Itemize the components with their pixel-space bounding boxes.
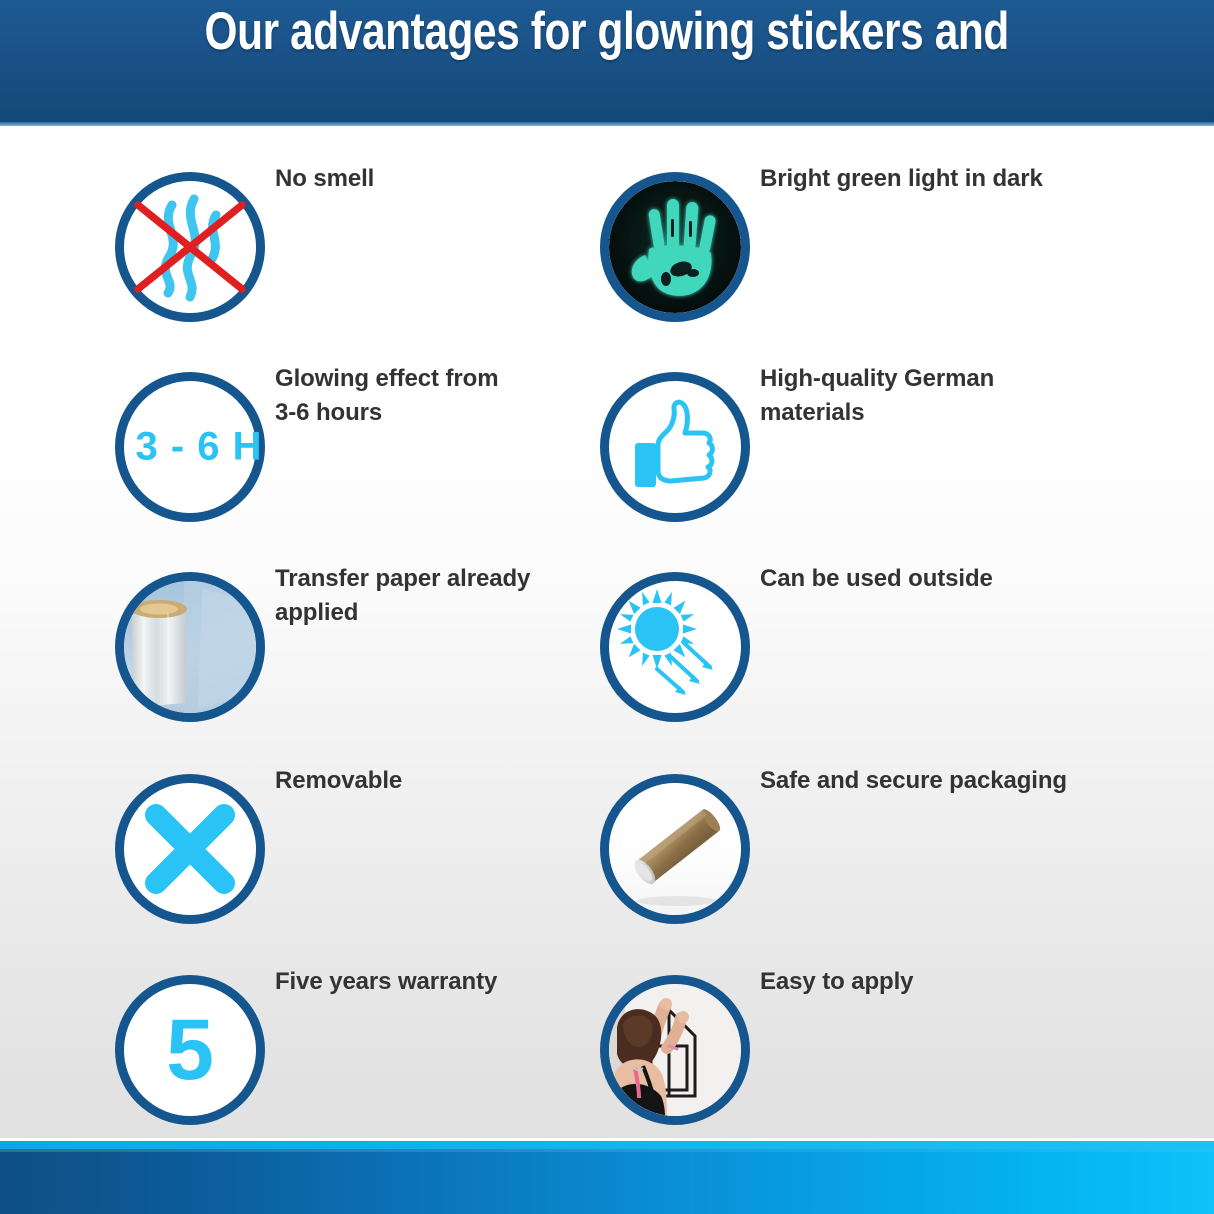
- hand-silhouette-icon: [609, 181, 741, 313]
- x-mark-glyph: [124, 783, 256, 915]
- feature-item-secure-packaging: Safe and secure packaging: [585, 750, 1105, 950]
- footer-accent-strip: [0, 1141, 1214, 1149]
- transfer-paper-roll-icon: [115, 572, 265, 722]
- footer-sheen: [0, 1149, 1214, 1152]
- features-section: No smell: [0, 126, 1214, 1138]
- paper-roll-shape: [124, 581, 256, 713]
- number-five-text: 5: [124, 1007, 256, 1093]
- page-footer: [0, 1149, 1214, 1214]
- hours-badge-icon: 3 - 6 H: [115, 372, 265, 522]
- feature-label: Removable: [275, 764, 615, 798]
- tube-photo: [609, 783, 741, 915]
- feature-item-bright-green-light: Bright green light in dark: [585, 148, 1105, 348]
- red-cross-overlay-icon: [124, 181, 256, 313]
- no-smell-icon: [115, 172, 265, 322]
- thumbs-up-icon: [600, 372, 750, 522]
- person-applying-decal-icon: [600, 975, 750, 1125]
- feature-label: Five years warranty: [275, 965, 615, 999]
- feature-label: Easy to apply: [760, 965, 1100, 999]
- glowing-handprint-icon: [600, 172, 750, 322]
- feature-item-removable: Removable: [100, 750, 620, 950]
- feature-item-five-years-warranty: 5 Five years warranty: [100, 951, 620, 1151]
- woman-applying-decal-photo: [609, 984, 741, 1116]
- feature-label: Transfer paper already applied: [275, 562, 615, 630]
- transfer-roll-photo: [124, 581, 256, 713]
- mailing-tube-icon: [600, 774, 750, 924]
- feature-label: No smell: [275, 162, 615, 196]
- sun-with-arrows-glyph: [609, 581, 741, 713]
- features-grid: No smell: [0, 126, 1214, 1138]
- cardboard-tube-shape: [609, 783, 741, 915]
- sun-rays-icon: [600, 572, 750, 722]
- number-five-badge-icon: 5: [115, 975, 265, 1125]
- feature-item-glowing-effect-hours: 3 - 6 H Glowing effect from 3-6 hours: [100, 348, 620, 548]
- cross-x-icon: [115, 774, 265, 924]
- infographic-page: Our advantages for glowing stickers and …: [0, 0, 1214, 1214]
- feature-label: Bright green light in dark: [760, 162, 1100, 196]
- feature-item-german-materials: High-quality German materials: [585, 348, 1105, 548]
- page-header: Our advantages for glowing stickers and …: [0, 0, 1214, 122]
- woman-and-wall-decal-shape: [609, 984, 741, 1116]
- feature-item-no-smell: No smell: [100, 148, 620, 348]
- feature-item-transfer-paper: Transfer paper already applied: [100, 548, 620, 748]
- feature-label: Safe and secure packaging: [760, 764, 1100, 798]
- feature-item-easy-to-apply: Easy to apply: [585, 951, 1105, 1151]
- feature-label: Can be used outside: [760, 562, 1100, 596]
- hours-badge-text: 3 - 6 H: [111, 425, 287, 470]
- handprint-photo: [609, 181, 741, 313]
- feature-item-used-outside: Can be used outside: [585, 548, 1105, 748]
- page-title-line-1: Our advantages for glowing stickers and: [205, 2, 1009, 61]
- feature-label: Glowing effect from 3-6 hours: [275, 362, 615, 430]
- feature-label: High-quality German materials: [760, 362, 1100, 430]
- thumbs-up-glyph: [609, 381, 741, 513]
